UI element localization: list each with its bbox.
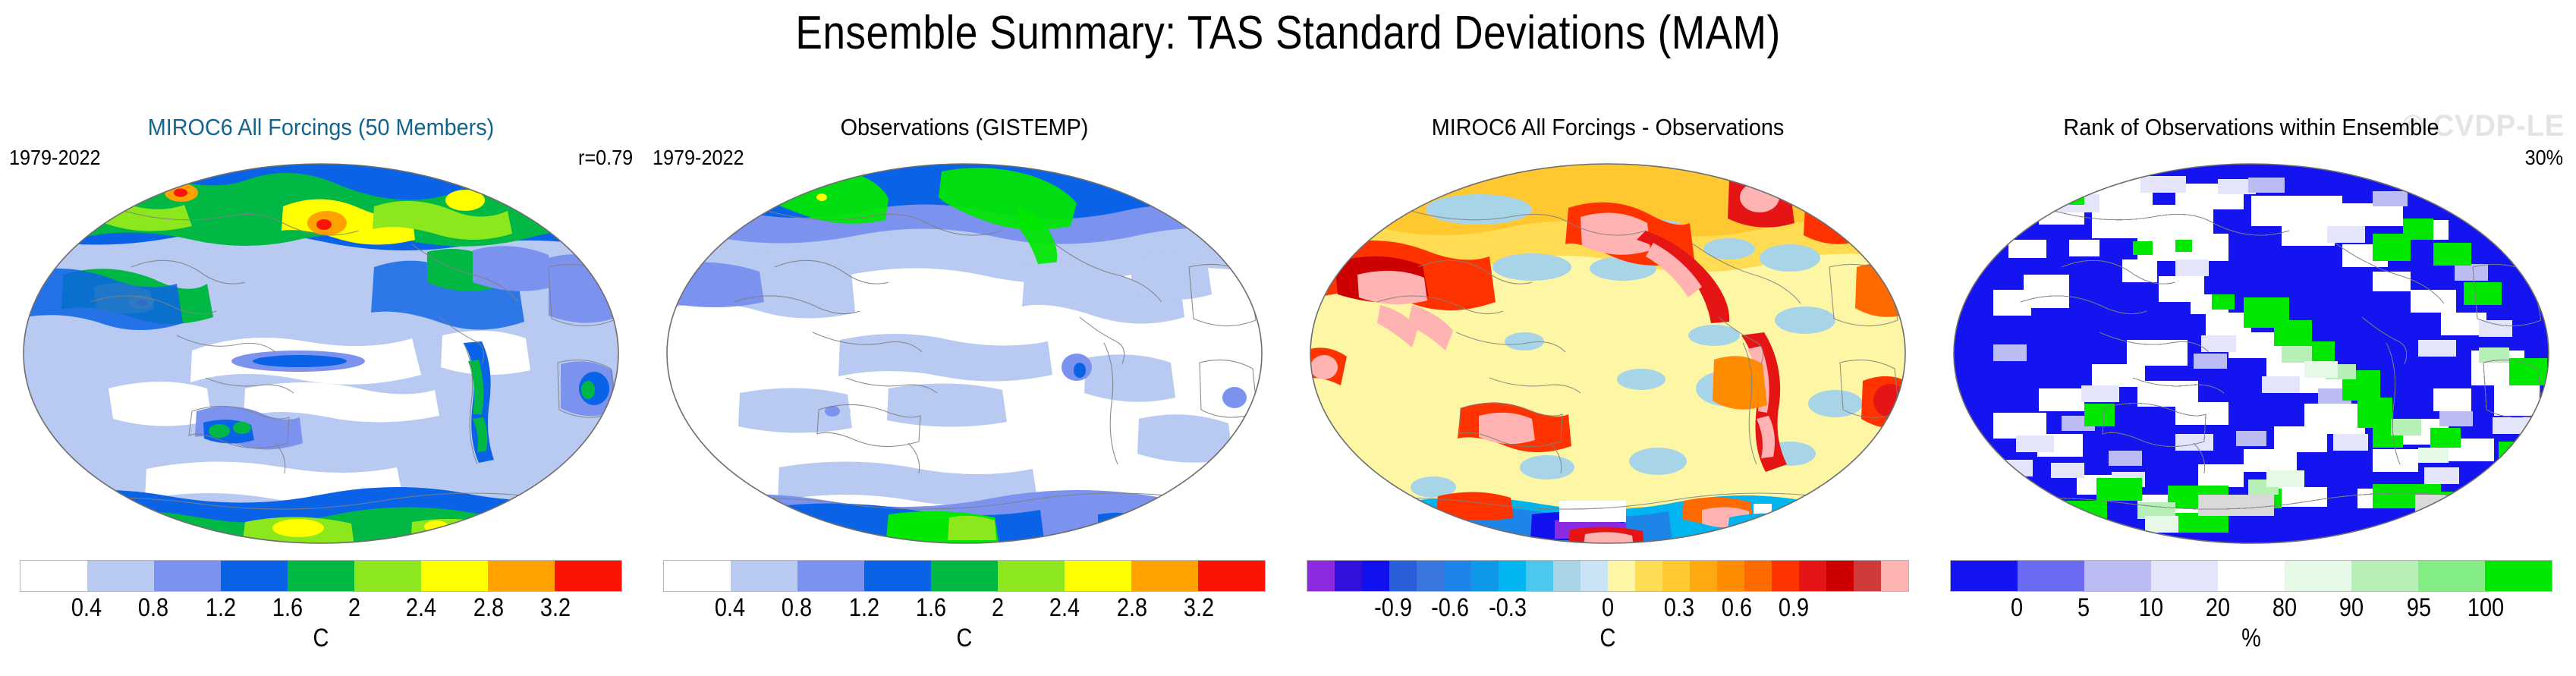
- colorbar-swatch-4: [1417, 561, 1444, 591]
- colorbar-swatch-16: [1744, 561, 1772, 591]
- colorbar-strip: [20, 560, 622, 592]
- colorbar-swatch-1: [731, 561, 797, 591]
- colorbar-swatch-9: [1553, 561, 1581, 591]
- colorbar-swatch-17: [1772, 561, 1799, 591]
- colorbar-swatch-6: [421, 561, 488, 591]
- colorbar-swatch-5: [1444, 561, 1471, 591]
- panel-header: MIROC6 All Forcings (50 Members): [28, 114, 614, 141]
- colorbar-swatch-3: [864, 561, 931, 591]
- colorbar-swatch-5: [2285, 561, 2351, 591]
- colorbar-tick-label: 2: [348, 593, 360, 623]
- colorbar-strip: [663, 560, 1266, 592]
- colorbar-swatch-0: [1951, 561, 2018, 591]
- colorbar-swatch-15: [1717, 561, 1744, 591]
- colorbar-tick-label: 0.8: [138, 593, 168, 623]
- colorbar-swatch-1: [87, 561, 154, 591]
- map-miroc6-all-forcings: [17, 161, 624, 546]
- colorbar-swatch-8: [1198, 561, 1265, 591]
- colorbar-swatch-0: [664, 561, 731, 591]
- colorbar-tick-label: 0.4: [715, 593, 745, 623]
- panel-header: MIROC6 All Forcings - Observations: [1315, 114, 1901, 141]
- colorbar-tick-label: 80: [2272, 593, 2297, 623]
- colorbar-swatch-18: [1799, 561, 1826, 591]
- map-observations-gistemp: [661, 161, 1268, 546]
- colorbar-swatch-10: [1581, 561, 1608, 591]
- panel-miroc6-all-forcings: MIROC6 All Forcings (50 Members) 1979-20…: [6, 114, 636, 675]
- colorbar-tick-label: -0.9: [1374, 593, 1412, 623]
- colorbar-swatch-8: [2485, 561, 2552, 591]
- figure-root: Ensemble Summary: TAS Standard Deviation…: [0, 0, 2576, 676]
- colorbar-tick-label: 0.8: [782, 593, 812, 623]
- colorbar-swatch-7: [1499, 561, 1526, 591]
- panel-model-minus-observations: MIROC6 All Forcings - Observations: [1293, 114, 1923, 675]
- colorbar-swatch-4: [931, 561, 998, 591]
- colorbar-tick-label: 2: [992, 593, 1004, 623]
- colorbar-swatch-2: [1362, 561, 1389, 591]
- panel-header: Observations (GISTEMP): [672, 114, 1257, 141]
- colorbar-tick-label: 100: [2467, 593, 2504, 623]
- colorbar-swatch-5: [998, 561, 1065, 591]
- colorbar-swatch-6: [1471, 561, 1499, 591]
- colorbar-swatch-7: [488, 561, 555, 591]
- colorbar-swatch-4: [288, 561, 354, 591]
- colorbar-swatch-20: [1854, 561, 1881, 591]
- colorbar-swatch-2: [154, 561, 221, 591]
- colorbar-unit-label: C: [1340, 624, 1876, 653]
- colorbar-tick-label: -0.6: [1431, 593, 1469, 623]
- colorbar-swatch-2: [797, 561, 864, 591]
- colorbar-unit-label: %: [1983, 624, 2519, 653]
- colorbar-tick-label: 0.3: [1664, 593, 1694, 623]
- colorbar-tick-label: 10: [2139, 593, 2163, 623]
- colorbar-swatch-3: [2151, 561, 2218, 591]
- colorbar-swatch-2: [2084, 561, 2151, 591]
- colorbar-swatch-8: [555, 561, 621, 591]
- colorbar-tick-label: 0: [2011, 593, 2023, 623]
- colorbar-swatch-1: [1335, 561, 1362, 591]
- colorbar-tick-label: 3.2: [1184, 593, 1214, 623]
- colorbar-rank-percentile: 051020809095100 %: [1936, 560, 2566, 653]
- colorbar-tick-label: 2.4: [1049, 593, 1080, 623]
- colorbar-std-dev-model: 0.40.81.21.622.42.83.2 C: [6, 560, 636, 653]
- map-model-minus-observations: [1304, 161, 1911, 546]
- colorbar-tick-label: 0: [1602, 593, 1614, 623]
- colorbar-swatch-6: [2351, 561, 2418, 591]
- colorbar-swatch-8: [1526, 561, 1553, 591]
- colorbar-tick-label: 20: [2206, 593, 2230, 623]
- colorbar-swatch-1: [2018, 561, 2084, 591]
- colorbar-swatch-5: [354, 561, 421, 591]
- colorbar-difference: -0.9-0.6-0.300.30.60.9 C: [1293, 560, 1923, 653]
- colorbar-tick-label: 3.2: [540, 593, 571, 623]
- colorbar-unit-label: C: [697, 624, 1232, 653]
- colorbar-swatch-0: [1307, 561, 1335, 591]
- colorbar-swatch-7: [1131, 561, 1198, 591]
- colorbar-tick-label: 0.9: [1779, 593, 1809, 623]
- colorbar-tick-label: 1.2: [849, 593, 879, 623]
- colorbar-swatch-3: [221, 561, 288, 591]
- colorbar-tick-label: 2.8: [1116, 593, 1146, 623]
- colorbar-tick-label: 1.6: [272, 593, 303, 623]
- colorbar-tick-label: 2.8: [473, 593, 503, 623]
- colorbar-tick-label: 5: [2077, 593, 2090, 623]
- colorbar-swatch-12: [1635, 561, 1662, 591]
- colorbar-swatch-4: [2218, 561, 2285, 591]
- colorbar-ticks: -0.9-0.6-0.300.30.60.9: [1307, 592, 1909, 627]
- colorbar-tick-label: 95: [2406, 593, 2430, 623]
- colorbar-unit-label: C: [53, 624, 589, 653]
- map-rank-of-observations: [1948, 161, 2555, 546]
- colorbar-std-dev-obs: 0.40.81.21.622.42.83.2 C: [650, 560, 1279, 653]
- page-title: Ensemble Summary: TAS Standard Deviation…: [181, 6, 2396, 60]
- colorbar-strip: [1950, 560, 2552, 592]
- colorbar-swatch-7: [2418, 561, 2485, 591]
- colorbar-ticks: 051020809095100: [1950, 592, 2552, 627]
- colorbar-tick-label: 0.4: [71, 593, 102, 623]
- colorbar-tick-label: 90: [2339, 593, 2364, 623]
- colorbar-swatch-19: [1826, 561, 1854, 591]
- colorbar-strip: [1307, 560, 1909, 592]
- colorbar-swatch-14: [1690, 561, 1717, 591]
- colorbar-tick-label: 0.6: [1722, 593, 1752, 623]
- colorbar-swatch-13: [1662, 561, 1690, 591]
- colorbar-swatch-11: [1608, 561, 1635, 591]
- panel-rank-of-observations: © CVDP-LE Rank of Observations within En…: [1936, 114, 2566, 675]
- colorbar-swatch-0: [20, 561, 87, 591]
- colorbar-swatch-6: [1065, 561, 1131, 591]
- colorbar-ticks: 0.40.81.21.622.42.83.2: [20, 592, 622, 627]
- colorbar-tick-label: 1.6: [916, 593, 946, 623]
- panel-header: Rank of Observations within Ensemble: [1958, 114, 2544, 141]
- panel-observations-gistemp: Observations (GISTEMP) 1979-2022: [650, 114, 1279, 675]
- colorbar-ticks: 0.40.81.21.622.42.83.2: [663, 592, 1266, 627]
- colorbar-tick-label: 2.4: [406, 593, 436, 623]
- colorbar-swatch-21: [1881, 561, 1908, 591]
- colorbar-swatch-3: [1389, 561, 1417, 591]
- colorbar-tick-label: -0.3: [1489, 593, 1527, 623]
- colorbar-tick-label: 1.2: [206, 593, 236, 623]
